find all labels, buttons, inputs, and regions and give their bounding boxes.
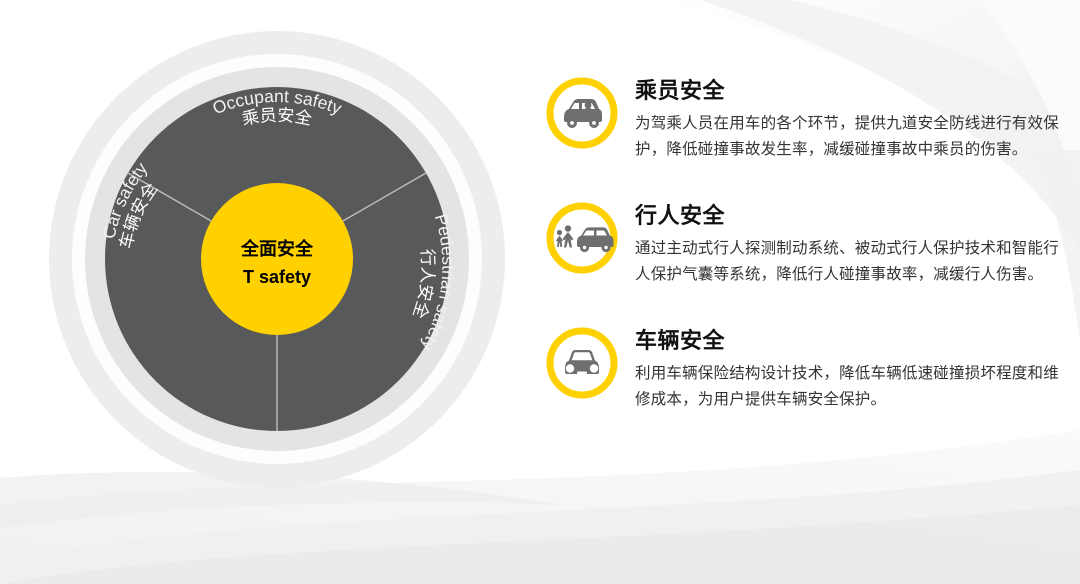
car-side-with-driver-icon [543,74,621,152]
feature-description: 通过主动式行人探测制动系统、被动式行人保护技术和智能行人保护气囊等系统，降低行人… [635,236,1063,286]
center-hub [201,183,353,335]
feature-title: 乘员安全 [635,78,1063,104]
donut-chart: 乘员安全 Occupant safety Car safety 车辆安全 Ped… [42,24,512,494]
pedestrian-and-car-icon [543,199,621,277]
feature-description: 利用车辆保险结构设计技术，降低车辆低速碰撞损坏程度和维修成本，为用户提供车辆安全… [635,361,1063,411]
center-title-en: T safety [243,267,311,287]
feature-title: 车辆安全 [635,328,1063,354]
center-title-cn: 全面安全 [240,238,314,259]
feature-description: 为驾乘人员在用车的各个环节，提供九道安全防线进行有效保护，降低碰撞事故发生率，减… [635,111,1063,161]
feature-occupant-safety[interactable]: 乘员安全 为驾乘人员在用车的各个环节，提供九道安全防线进行有效保护，降低碰撞事故… [543,72,1063,168]
swoosh-bottom-3 [0,505,1080,584]
car-front-icon [543,324,621,402]
feature-title: 行人安全 [635,203,1063,229]
feature-vehicle-safety[interactable]: 车辆安全 利用车辆保险结构设计技术，降低车辆低速碰撞损坏程度和维修成本，为用户提… [543,322,1063,418]
feature-text-block: 乘员安全 为驾乘人员在用车的各个环节，提供九道安全防线进行有效保护，降低碰撞事故… [635,72,1063,162]
feature-list: 乘员安全 为驾乘人员在用车的各个环节，提供九道安全防线进行有效保护，降低碰撞事故… [543,72,1063,447]
feature-pedestrian-safety[interactable]: 行人安全 通过主动式行人探测制动系统、被动式行人保护技术和智能行人保护气囊等系统… [543,197,1063,293]
safety-donut-diagram: 乘员安全 Occupant safety Car safety 车辆安全 Ped… [42,24,512,494]
feature-text-block: 车辆安全 利用车辆保险结构设计技术，降低车辆低速碰撞损坏程度和维修成本，为用户提… [635,322,1063,412]
feature-text-block: 行人安全 通过主动式行人探测制动系统、被动式行人保护技术和智能行人保护气囊等系统… [635,197,1063,287]
